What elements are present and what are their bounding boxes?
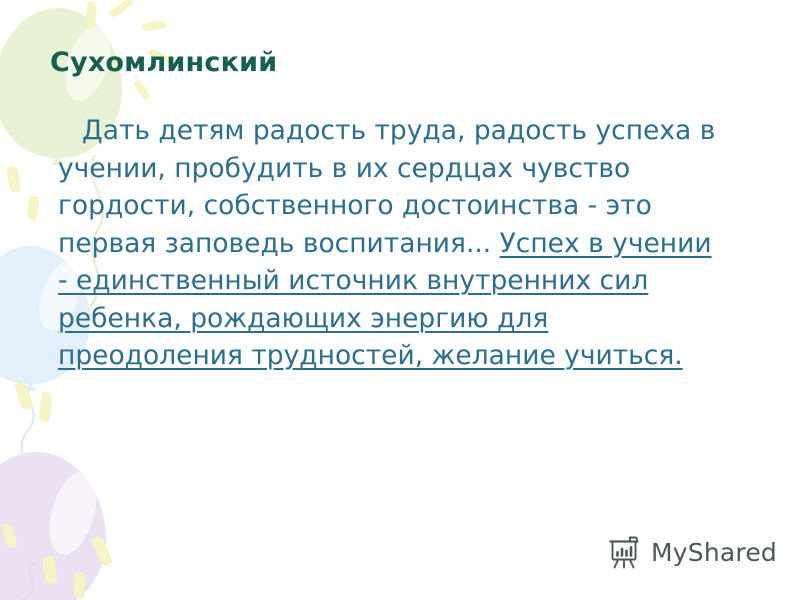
balloon-purple-icon: [0, 452, 106, 600]
sparkle-ray-icon: [6, 165, 21, 192]
balloon-highlight: [41, 466, 105, 560]
sparkle-ray-icon: [26, 195, 40, 220]
myshared-watermark: MyShared: [608, 534, 777, 570]
balloon-purple-string-icon: [4, 562, 94, 600]
sparkle-ray-icon: [141, 20, 166, 33]
sparkle-ray-icon: [1, 523, 17, 549]
presentation-chart-icon: [608, 534, 642, 570]
slide-body-text: Дать детям радость труда, радость успеха…: [58, 112, 718, 375]
sparkle-ray-icon: [133, 80, 152, 101]
presentation-slide: Сухомлинский Дать детям радость труда, р…: [0, 0, 800, 600]
sparkle-ray-icon: [38, 391, 53, 422]
sparkle-ray-icon: [73, 571, 87, 598]
sparkle-ray-icon: [91, 535, 113, 567]
sparkle-ray-icon: [108, 0, 133, 19]
sparkle-ray-icon: [85, 2, 98, 29]
balloon-blue-string-icon: [6, 382, 96, 472]
slide-title: Сухомлинский: [50, 47, 277, 78]
myshared-logo-text: MyShared: [651, 540, 777, 565]
sparkle-ray-icon: [43, 555, 58, 584]
sparkle-ray-icon: [14, 381, 33, 411]
